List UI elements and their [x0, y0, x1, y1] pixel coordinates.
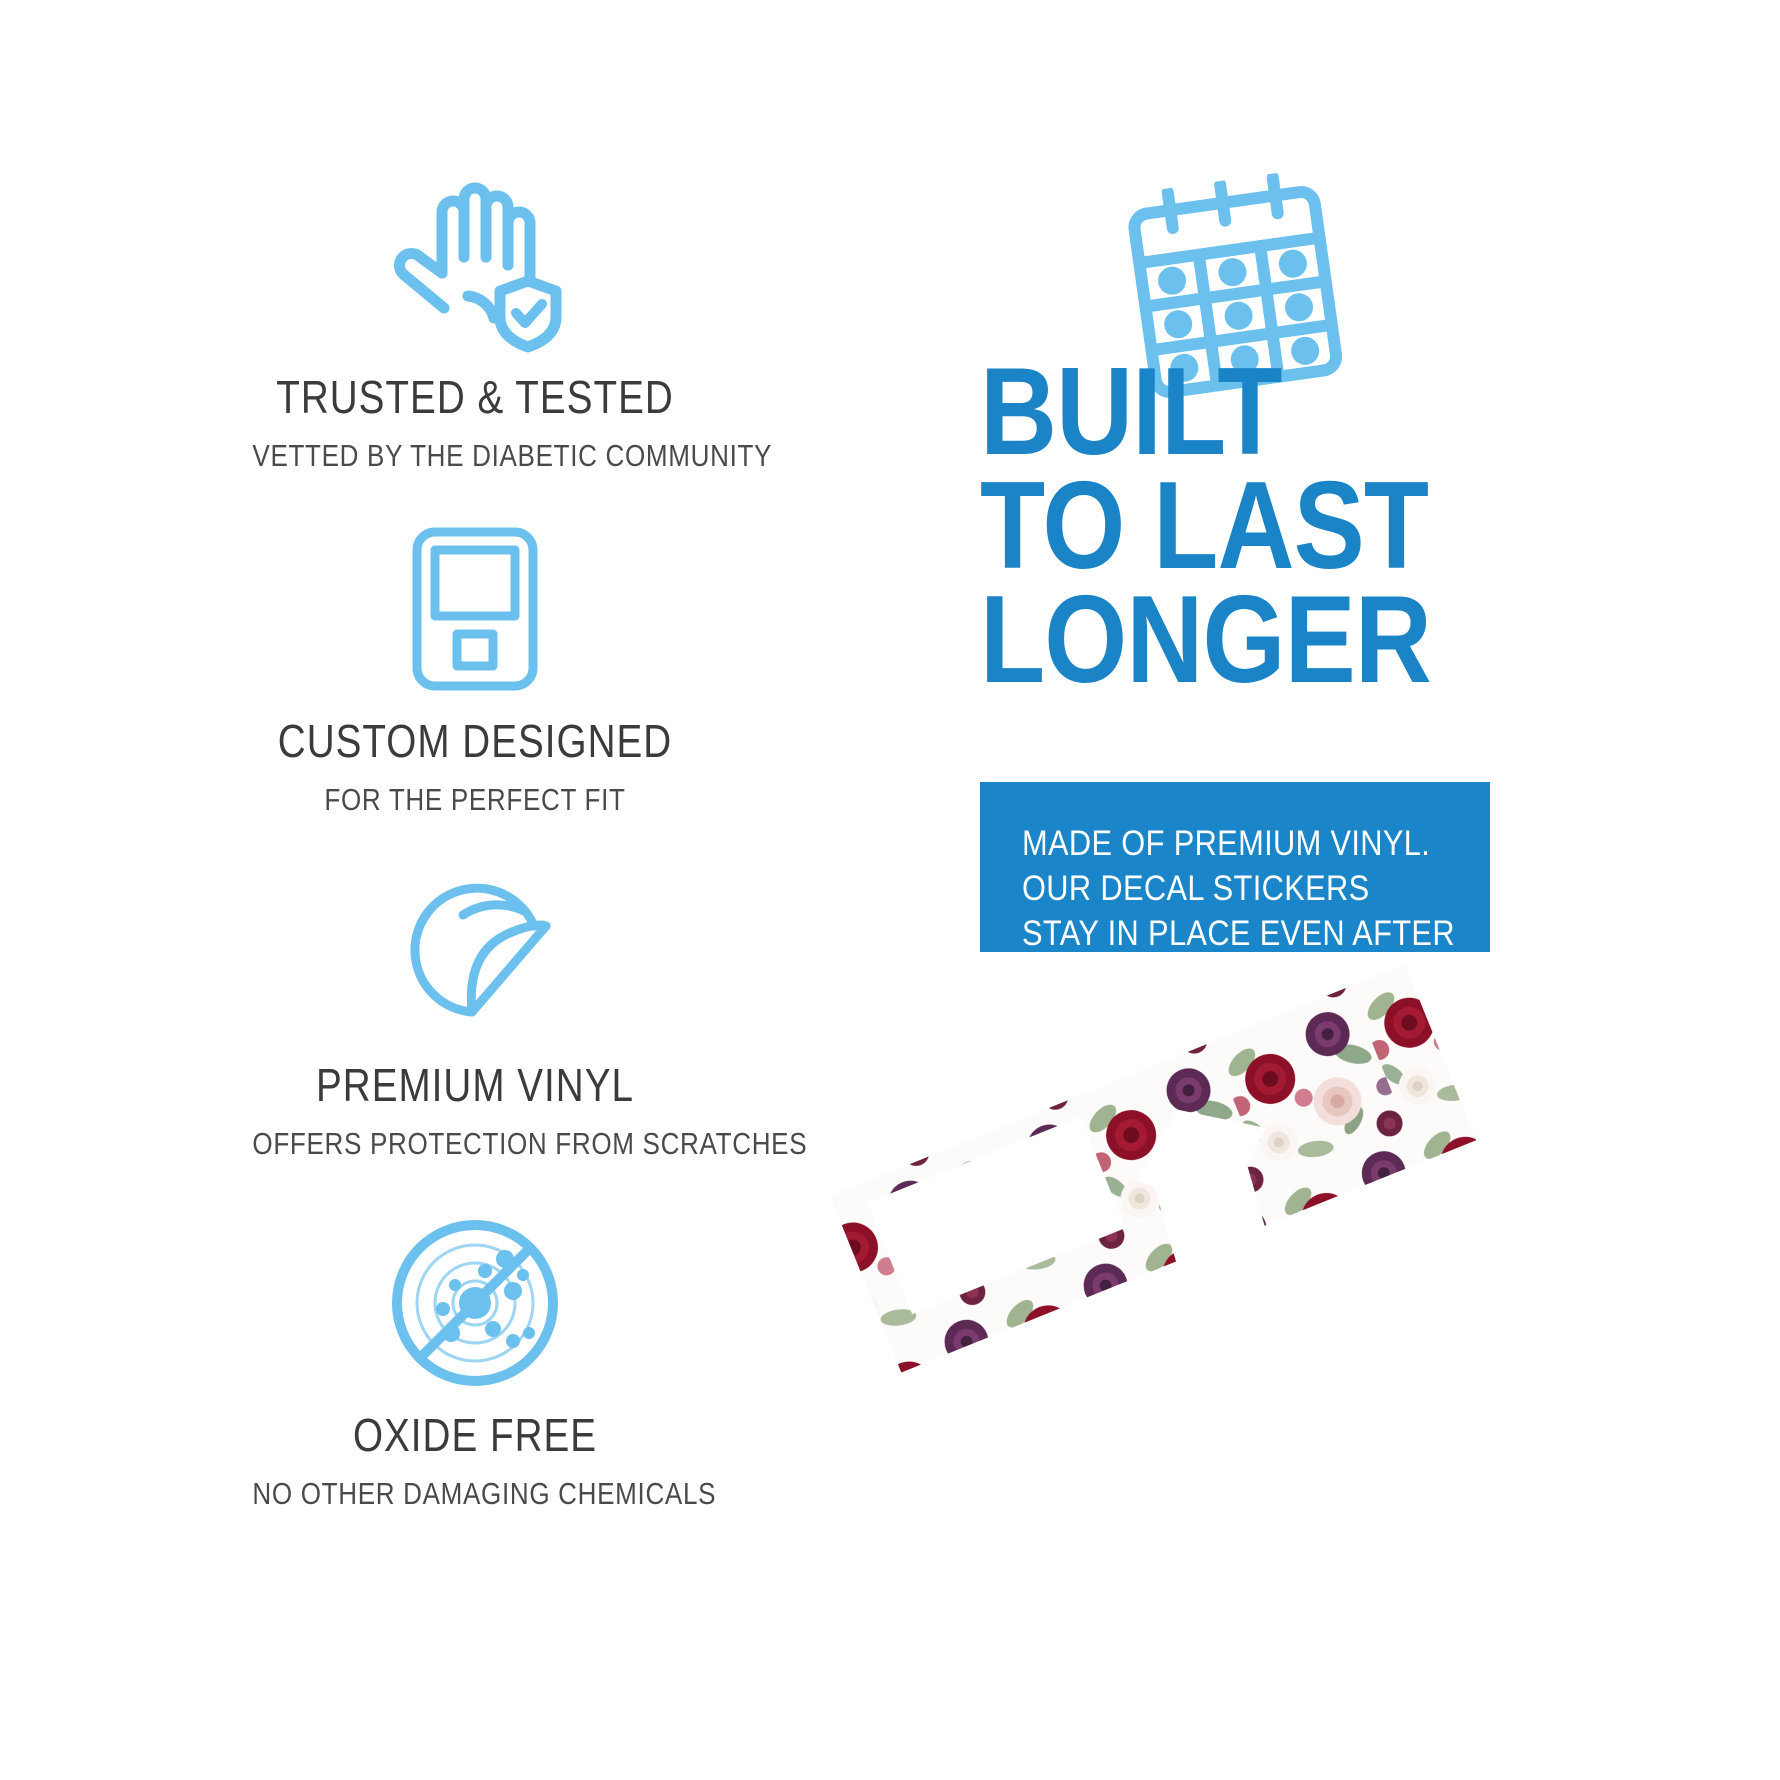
feature-subtitle: VETTED BY THE DIABETIC COMMUNITY: [252, 438, 697, 474]
feature-premium-vinyl: PREMIUM VINYL OFFERS PROTECTION FROM SCR…: [210, 858, 740, 1162]
feature-subtitle: FOR THE PERFECT FIT: [252, 782, 697, 818]
feature-oxide-free: OXIDE FREE NO OTHER DAMAGING CHEMICALS: [210, 1208, 740, 1512]
feature-title: CUSTOM DESIGNED: [252, 714, 697, 768]
hand-shield-icon: [210, 160, 740, 360]
right-column: BUILT TO LAST LONGER MADE OF PREMIUM VIN…: [980, 0, 1780, 1780]
headline-line-3: LONGER: [980, 583, 1427, 697]
features-column: TRUSTED & TESTED VETTED BY THE DIABETIC …: [210, 160, 740, 1530]
info-box: MADE OF PREMIUM VINYL. OUR DECAL STICKER…: [980, 782, 1490, 952]
no-oxide-radar-icon: [210, 1208, 740, 1398]
feature-title: OXIDE FREE: [252, 1408, 697, 1462]
glucose-meter-device-icon: [210, 514, 740, 704]
headline-line-1: BUILT: [980, 355, 1427, 469]
info-line-1: MADE OF PREMIUM VINYL.: [1022, 822, 1407, 867]
floral-decal-sticker-image: [820, 930, 1520, 1490]
headline: BUILT TO LAST LONGER: [980, 355, 1500, 697]
feature-title: TRUSTED & TESTED: [252, 370, 697, 424]
feature-title: PREMIUM VINYL: [252, 1058, 697, 1112]
feature-trusted-and-tested: TRUSTED & TESTED VETTED BY THE DIABETIC …: [210, 160, 740, 474]
feature-subtitle: NO OTHER DAMAGING CHEMICALS: [252, 1476, 697, 1512]
info-line-2: OUR DECAL STICKERS: [1022, 867, 1407, 912]
feature-custom-designed: CUSTOM DESIGNED FOR THE PERFECT FIT: [210, 514, 740, 818]
peeling-sticker-icon: [210, 858, 740, 1048]
headline-line-2: TO LAST: [980, 469, 1427, 583]
infographic-page: TRUSTED & TESTED VETTED BY THE DIABETIC …: [0, 0, 1780, 1780]
feature-subtitle: OFFERS PROTECTION FROM SCRATCHES: [252, 1126, 697, 1162]
